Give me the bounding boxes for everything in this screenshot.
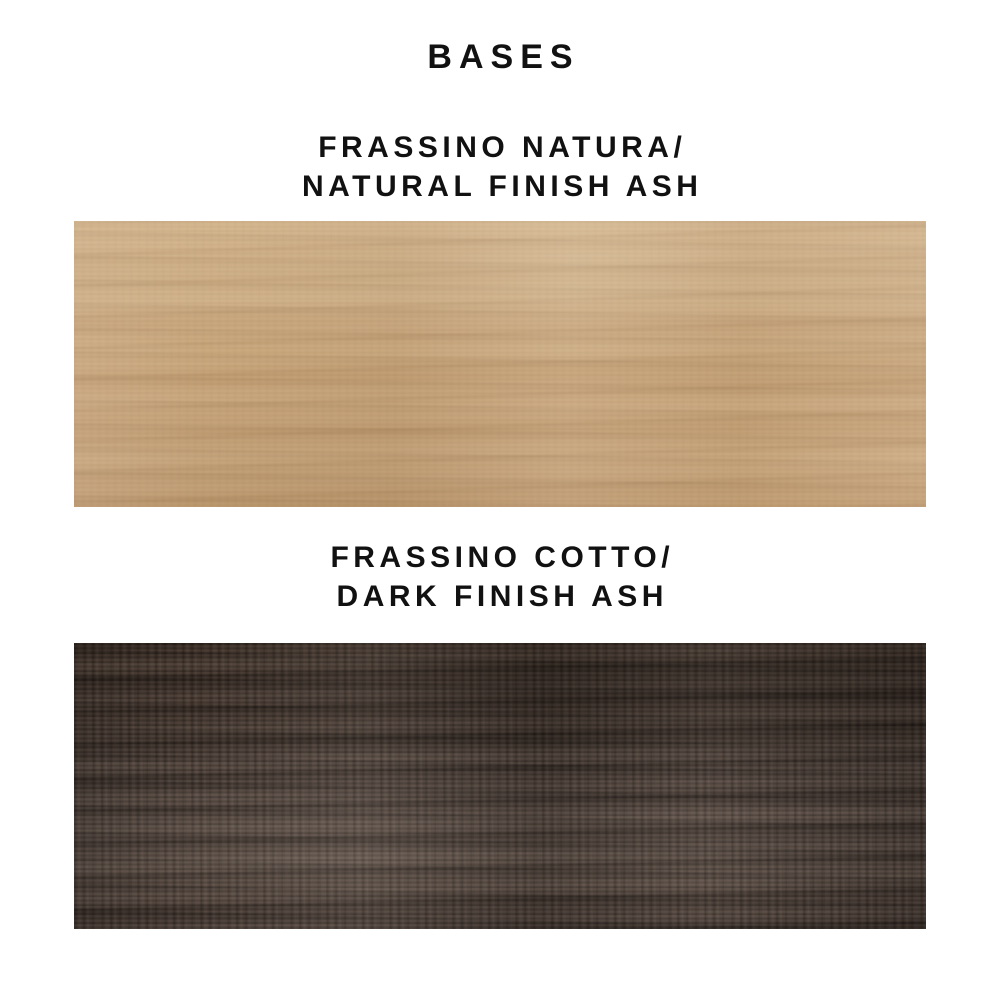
- wood-sheen-layer: [74, 221, 926, 507]
- wood-sample-frassino-cotto: [74, 643, 926, 929]
- swatch-caption-line-2: NATURAL FINISH ASH: [0, 167, 1000, 206]
- page-title: BASES: [0, 36, 1000, 78]
- wood-sample-frassino-natura: [74, 221, 926, 507]
- swatch-caption-line-2: DARK FINISH ASH: [0, 577, 1000, 616]
- bases-finish-board: BASES FRASSINO NATURA/ NATURAL FINISH AS…: [0, 0, 1000, 1000]
- wood-sheen-layer: [74, 643, 926, 929]
- swatch-caption-line-1: FRASSINO COTTO/: [0, 538, 1000, 577]
- swatch-caption-line-1: FRASSINO NATURA/: [0, 128, 1000, 167]
- swatch-caption-frassino-cotto: FRASSINO COTTO/ DARK FINISH ASH: [0, 538, 1000, 616]
- swatch-group-frassino-cotto: FRASSINO COTTO/ DARK FINISH ASH: [0, 538, 1000, 929]
- swatch-caption-frassino-natura: FRASSINO NATURA/ NATURAL FINISH ASH: [0, 128, 1000, 206]
- swatch-group-frassino-natura: FRASSINO NATURA/ NATURAL FINISH ASH: [0, 128, 1000, 507]
